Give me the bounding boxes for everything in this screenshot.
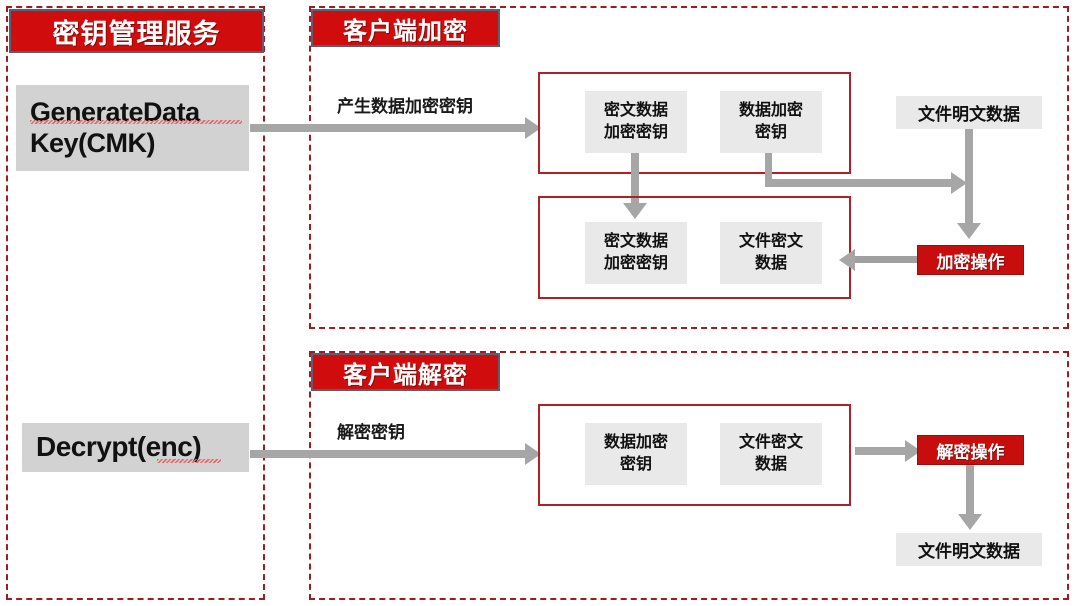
encrypt-bottom-file-ciphertext-box: 文件密文 数据 bbox=[720, 222, 822, 284]
encrypt-bottom-ciphertext-dek-box: 密文数据 加密密钥 bbox=[585, 222, 687, 284]
diagram-canvas: 密钥管理服务 客户端加密 客户端解密 GenerateData Key(CMK)… bbox=[0, 0, 1080, 606]
decrypt-plaintext-dek-label: 数据加密 密钥 bbox=[604, 432, 668, 475]
decrypt-file-plaintext-label: 文件明文数据 bbox=[918, 537, 1020, 562]
decrypt-operation-label: 解密操作 bbox=[937, 438, 1005, 463]
connector-decrypt-api-to-group bbox=[250, 450, 525, 458]
api-box-decrypt[interactable]: Decrypt(enc) bbox=[22, 423, 249, 472]
decrypt-file-plaintext-box: 文件明文数据 bbox=[896, 533, 1042, 566]
connector-generate-datakey-to-group bbox=[250, 124, 525, 132]
spellcheck-squiggle-decrypt bbox=[157, 459, 221, 463]
encrypt-operation-chip[interactable]: 加密操作 bbox=[917, 245, 1024, 275]
kms-title-label: 密钥管理服务 bbox=[53, 12, 221, 51]
encrypt-file-plaintext-box: 文件明文数据 bbox=[896, 96, 1042, 129]
encrypt-edge-label-text: 产生数据加密密钥 bbox=[337, 97, 473, 116]
client-encrypt-title-banner: 客户端加密 bbox=[311, 9, 500, 47]
arrowhead-decrypt-op-to-plaintext bbox=[958, 514, 982, 530]
connector-plaintext-dek-right bbox=[765, 179, 961, 187]
encrypt-top-plaintext-dek-box: 数据加密 密钥 bbox=[720, 91, 822, 153]
encrypt-top-ciphertext-dek-box: 密文数据 加密密钥 bbox=[585, 91, 687, 153]
decrypt-operation-chip[interactable]: 解密操作 bbox=[917, 435, 1024, 465]
arrowhead-encrypt-op-to-group bbox=[839, 249, 855, 271]
client-decrypt-title-label: 客户端解密 bbox=[343, 355, 468, 390]
arrowhead-file-plaintext-to-encrypt-op bbox=[957, 223, 981, 239]
connector-decrypt-group-to-op bbox=[855, 447, 908, 455]
encrypt-edge-label: 产生数据加密密钥 bbox=[337, 92, 473, 117]
client-decrypt-title-banner: 客户端解密 bbox=[311, 353, 500, 391]
api-box-generate-datakey[interactable]: GenerateData Key(CMK) bbox=[16, 85, 249, 171]
encrypt-top-plaintext-dek-label: 数据加密 密钥 bbox=[739, 100, 803, 143]
decrypt-file-ciphertext-box: 文件密文 数据 bbox=[720, 423, 822, 485]
api-generate-datakey-label: GenerateData Key(CMK) bbox=[30, 97, 200, 159]
decrypt-edge-label-text: 解密密钥 bbox=[337, 423, 405, 442]
connector-encrypt-op-to-group bbox=[855, 256, 917, 263]
decrypt-plaintext-dek-box: 数据加密 密钥 bbox=[585, 423, 687, 485]
connector-plaintext-dek-down-stub bbox=[765, 153, 772, 179]
encrypt-operation-label: 加密操作 bbox=[937, 248, 1005, 273]
connector-file-plaintext-to-encrypt-op bbox=[965, 129, 973, 225]
kms-title-banner: 密钥管理服务 bbox=[9, 9, 264, 53]
client-encrypt-title-label: 客户端加密 bbox=[343, 11, 468, 46]
encrypt-file-plaintext-label: 文件明文数据 bbox=[918, 100, 1020, 125]
decrypt-file-ciphertext-label: 文件密文 数据 bbox=[739, 432, 803, 475]
decrypt-edge-label: 解密密钥 bbox=[337, 418, 405, 443]
spellcheck-squiggle-generate-datakey bbox=[30, 120, 242, 124]
encrypt-top-ciphertext-dek-label: 密文数据 加密密钥 bbox=[604, 100, 668, 143]
encrypt-bottom-ciphertext-dek-label: 密文数据 加密密钥 bbox=[604, 231, 668, 274]
connector-decrypt-op-to-plaintext bbox=[966, 465, 974, 516]
encrypt-bottom-file-ciphertext-label: 文件密文 数据 bbox=[739, 231, 803, 274]
